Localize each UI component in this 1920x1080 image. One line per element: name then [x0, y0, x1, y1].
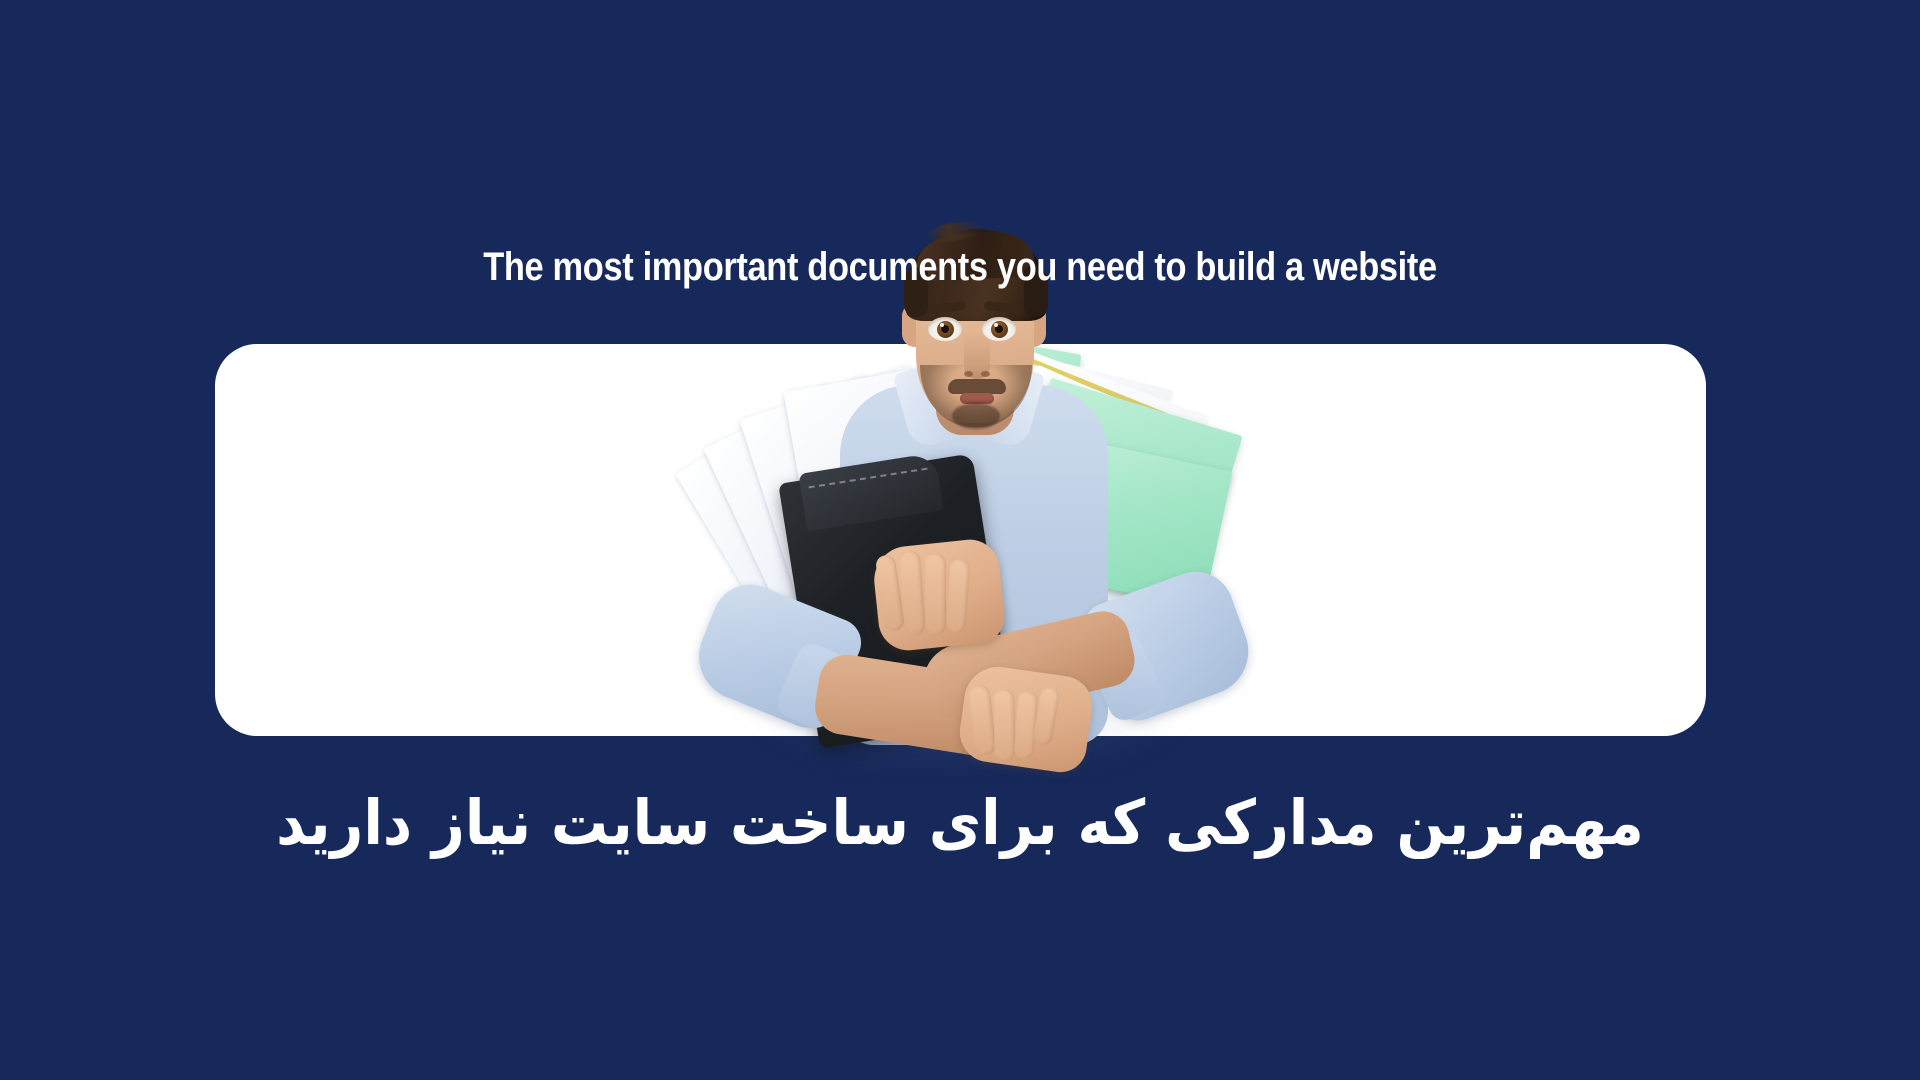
subject-iris-left — [937, 321, 954, 338]
subject-eyebrow-left — [928, 301, 967, 315]
subject-eye-glint-right — [994, 323, 998, 327]
white-content-card — [215, 344, 1706, 736]
subject-ear-left — [902, 303, 928, 347]
subject-eyebrow-right — [984, 301, 1023, 315]
subject-eye-glint-left — [940, 323, 944, 327]
subject-pupil-left — [941, 325, 949, 333]
subject-ear-right — [1020, 303, 1046, 347]
subject-pupil-right — [995, 325, 1003, 333]
subject-eye-left — [928, 317, 962, 341]
subject-iris-right — [991, 321, 1008, 338]
banner-root: The most important documents you need to… — [0, 0, 1920, 1080]
headline-english: The most important documents you need to… — [134, 246, 1785, 288]
headline-persian: مهم‌ترین مدارکی که برای ساخت سایت نیاز د… — [77, 784, 1843, 862]
subject-hair-wisp — [925, 218, 983, 245]
subject-eye-right — [982, 317, 1016, 341]
forehead-crease — [942, 289, 1008, 291]
